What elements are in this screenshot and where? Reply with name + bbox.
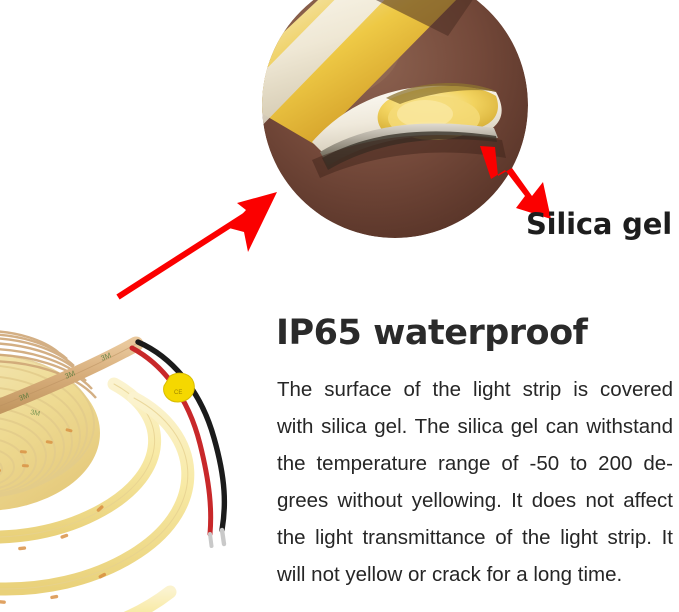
cob-led-strip-reel: 3S7M 3M 3M 3M [0, 238, 270, 612]
led-strip-reel-graphic: 3S7M 3M 3M 3M [0, 238, 270, 612]
body-description: The surface of the light strip is covere… [277, 371, 673, 593]
body-line: the light transmittance of the light str… [277, 519, 673, 556]
silica-gel-macro-inset [262, 0, 528, 238]
product-infographic: 3S7M 3M 3M 3M [0, 0, 679, 612]
silica-gel-label: Silica gel [526, 207, 672, 241]
body-line: The surface of the light strip is covere… [277, 371, 673, 408]
body-line: with silica gel. The silica gel can with… [277, 408, 673, 445]
reel-inner-coils: 3S7M 3M 3M 3M [0, 331, 100, 511]
svg-text:CE: CE [174, 390, 182, 396]
page-title: IP65 waterproof [276, 313, 587, 353]
body-line: grees without yellowing. It does not aff… [277, 482, 673, 519]
body-line: will not yellow or crack for a long time… [277, 556, 673, 593]
body-line: the temperature range of -50 to 200 de- [277, 445, 673, 482]
inset-photo-graphic [262, 0, 528, 238]
